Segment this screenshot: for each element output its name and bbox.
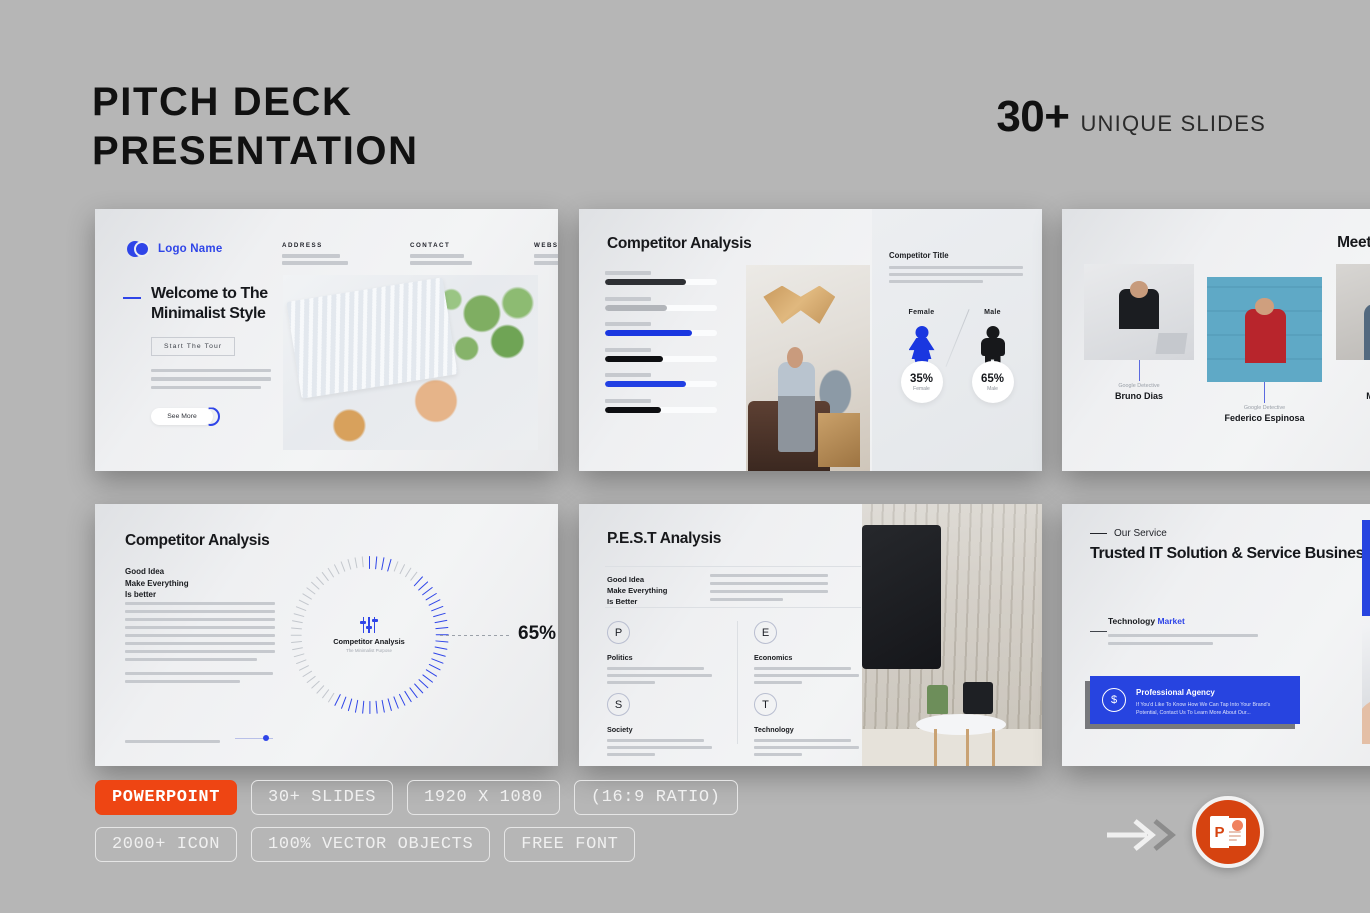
team-photo-3 [1336,264,1370,360]
bar-fill-indesign [605,356,663,362]
see-more-button[interactable]: See More [151,408,213,425]
dial-tick [394,561,399,572]
badge-vector-objects[interactable]: 100% VECTOR OBJECTS [251,827,490,862]
female-percent-caption: Female [913,386,930,392]
contact-website: WEBSITE [534,242,558,268]
contact-address: ADDRESS [282,242,348,268]
pest-letter-icon: P [607,621,630,644]
slide-title: Competitor Analysis [607,235,751,253]
female-percent-badge: 35% Female [901,361,943,403]
pest-item-society[interactable]: S Society [607,693,712,756]
bar-fill-presentation [605,407,661,413]
slide-count-group: 30+ UNIQUE SLIDES [996,92,1266,142]
tablet-photo [1362,624,1370,744]
dial-center-label: Competitor Analysis The Minimalist Purpo… [314,617,424,653]
slide-title: Meet The Team [1337,234,1370,252]
stem-line [1264,382,1265,403]
filler-line [534,261,558,265]
desk-photo [283,275,538,450]
pest-name: Economics [754,653,859,662]
dial-tick [302,593,312,600]
dial-tick [291,641,302,643]
cta-body: If You'd Like To Know How We Can Tap Int… [1136,702,1288,718]
bar-track [605,356,717,362]
dial-tick [414,683,424,694]
slide-count-label: UNIQUE SLIDES [1080,111,1266,137]
dial-tick [428,664,440,671]
welcome-title: Welcome to The Minimalist Style [151,284,273,325]
dial-tick [387,698,392,711]
filler-line [410,261,472,265]
dial-tick [311,680,320,688]
eyebrow: Our Service [1090,528,1167,539]
team-name-1: Bruno Dias [1084,391,1194,401]
stem-line [1139,360,1140,381]
feature-badges: POWERPOINT 30+ SLIDES 1920 X 1080 (16:9 … [95,780,715,874]
dial-tick [316,685,324,694]
dial-tick [291,634,302,635]
welcome-block: Welcome to The Minimalist Style Start Th… [123,284,273,425]
dial-tick [291,627,302,629]
badge-powerpoint[interactable]: POWERPOINT [95,780,237,815]
panel-paragraph [889,266,1023,283]
slide-subtitle: Good Idea Make Everything Is better [125,566,189,601]
badge-ratio[interactable]: (16:9 RATIO) [574,780,738,815]
badge-icons[interactable]: 2000+ ICON [95,827,237,862]
welcome-paragraph [151,369,271,390]
dial-tick [369,701,370,714]
dial-tick [341,561,346,572]
start-tour-button[interactable]: Start The Tour [151,337,235,356]
filler-line [534,254,558,258]
slide-title: Trusted IT Solution & Service Business A… [1090,544,1370,564]
skill-bar-list [605,271,717,424]
male-percent-badge: 65% Male [972,361,1014,403]
professional-agency-cta[interactable]: $ Professional Agency If You'd Like To K… [1090,676,1300,724]
footer-url [125,740,220,743]
dial-tick [322,572,330,582]
see-more-label: See More [167,413,196,420]
dial-tick [434,620,447,624]
bar-track [605,279,717,285]
dial-title: Competitor Analysis [314,637,424,646]
body-paragraph-2 [125,672,273,683]
pest-body [607,667,712,684]
dial-tick [435,627,448,630]
contact-heading: WEBSITE [534,242,558,249]
skill-bar [605,373,717,387]
dial-tick [306,675,316,683]
badge-free-font[interactable]: FREE FONT [504,827,635,862]
bar-track [605,330,717,336]
dial-tick [431,658,444,664]
slide-competitor-bars[interactable]: Competitor Analysis Competitor Title Fem… [579,209,1042,471]
body-paragraph [125,602,275,661]
filler-line [282,261,348,265]
slide-welcome[interactable]: Logo Name ADDRESS CONTACT WEBSITE Welcom… [95,209,558,471]
bar-track [605,407,717,413]
sliders-icon [314,617,424,633]
dial-tick [328,692,335,702]
dial-tick [362,701,365,714]
dial-tick [425,669,437,677]
badge-row-2: 2000+ ICON 100% VECTOR OBJECTS FREE FONT [95,827,715,862]
slide-meet-the-team[interactable]: Meet The Team Google Detective Bruno Dia… [1062,209,1370,471]
dial-tick [306,587,316,595]
dial-tick [292,620,303,623]
slide-title: P.E.S.T Analysis [607,530,721,548]
dial-tick [404,691,412,703]
bar-fill-adobe-photoshop [605,305,667,311]
dial-tick [296,659,307,664]
dial-tick [428,599,440,606]
dial-tick [311,581,320,589]
arrow-double-right-icon [1105,818,1181,852]
office-photo [746,265,870,471]
dial-subtitle: The Minimalist Purpose [314,648,424,653]
dial-tick [409,687,418,698]
market-label: Market [1157,616,1184,626]
skill-bar [605,399,717,413]
page-title-line1: PITCH DECK [92,80,352,124]
bar-fill-adobe-illustrator [605,279,686,285]
dial-tick [418,679,429,689]
tech-paragraph [1108,634,1258,645]
refresh-dollar-icon: $ [1102,688,1126,712]
dial-tick [362,556,364,567]
slide-our-service[interactable]: Our Service Trusted IT Solution & Servic… [1062,504,1370,766]
contact-contact: CONTACT [410,242,472,268]
dial-tick [387,559,392,572]
team-name-2: Federico Espinosa [1207,413,1322,423]
skill-bar [605,348,717,362]
pest-name: Technology [754,725,859,734]
dial-tick [399,564,405,574]
page-title: PITCH DECK PRESENTATION [92,78,419,176]
team-role-1: Google Detective [1084,383,1194,389]
dial-tick [433,652,446,657]
pest-body [754,739,859,756]
logo-label: Logo Name [158,243,222,255]
leader-dotted-line [440,635,512,636]
dial-tick [434,646,447,650]
dial-tick [393,696,399,709]
team-photo-2 [1207,277,1322,382]
dial-tick [422,674,433,683]
dial-tick [410,572,418,582]
dial-tick [294,613,305,617]
body-paragraph [710,574,828,601]
tech-label: Technology [1108,616,1157,626]
eyebrow-label: Our Service [1114,528,1167,539]
cta-title: Professional Agency [1136,688,1215,697]
skill-bar [605,297,717,311]
pest-item-politics[interactable]: P Politics [607,621,712,684]
pest-name: Society [607,725,712,734]
team-role-3: Google Detective [1336,383,1370,389]
pest-letter-icon: E [754,621,777,644]
radial-tick-chart: Competitor Analysis The Minimalist Purpo… [290,556,448,714]
slide-subtitle: Good Idea Make Everything Is Better [607,574,667,607]
dial-tick [292,647,303,650]
dial-tick [294,653,305,657]
dial-tick [299,665,309,671]
pest-letter-icon: S [607,693,630,716]
logo: Logo Name [127,241,222,257]
accent-dash [1090,631,1107,632]
dial-tick [341,696,347,709]
dial-tick [322,689,330,699]
team-photo-1 [1084,264,1194,360]
slide-title: Competitor Analysis [125,532,269,550]
dial-tick [354,557,357,568]
bar-track [605,305,717,311]
dial-tick [375,556,378,569]
dial-tick [299,599,309,605]
dial-tick [347,559,351,570]
dial-tick [355,700,359,713]
dial-tick [369,556,370,569]
logo-circles-icon [127,241,150,257]
bar-fill-power-point [605,330,692,336]
female-percent-value: 35% [910,373,933,385]
pest-item-economics[interactable]: E Economics [754,621,859,684]
pest-body [607,739,712,756]
graphic-design-card[interactable]: GRAPHIC DESIGN This is the sample Dummy … [1362,520,1370,616]
dial-tick [347,698,352,711]
panel-title: Competitor Title [889,251,949,260]
badge-resolution[interactable]: 1920 X 1080 [407,780,560,815]
contact-columns: ADDRESS CONTACT WEBSITE [282,242,558,268]
dial-percent-value: 65% [518,623,556,645]
contact-heading: ADDRESS [282,242,348,249]
pest-name: Politics [607,653,712,662]
dial-tick [405,567,412,577]
bedroom-photo [862,504,1042,766]
bar-fill-opportunity [605,381,686,387]
competitor-panel: Competitor Title Female Male [872,209,1042,471]
slide-competitor-dial[interactable]: Competitor Analysis Good Idea Make Every… [95,504,558,766]
dial-tick [334,694,341,706]
pest-body [754,667,859,684]
team-role-2: Google Detective [1207,405,1322,411]
dial-tick [302,670,312,677]
percent-circles: 35% Female 65% Male [886,361,1028,403]
pest-item-technology[interactable]: T Technology [754,693,859,756]
dial-tick [431,606,444,612]
dial-tick [433,613,446,618]
team-name-3: Mark Roberson [1336,391,1370,401]
technology-market-label: Technology Market [1108,616,1185,626]
dial-tick [316,576,324,585]
page-title-line2: PRESENTATION [92,127,419,176]
dial-tick [381,557,385,570]
badge-row-1: POWERPOINT 30+ SLIDES 1920 X 1080 (16:9 … [95,780,715,815]
dial-tick [399,694,406,706]
skill-bar [605,271,717,285]
pest-letter-icon: T [754,693,777,716]
bar-track [605,381,717,387]
male-percent-value: 65% [981,373,1004,385]
progress-slider[interactable] [235,735,273,741]
skill-bar [605,322,717,336]
dial-tick [381,700,385,713]
dial-tick [296,606,307,611]
dial-tick [435,640,448,643]
powerpoint-logo-icon[interactable]: P [1192,796,1264,868]
dial-tick [375,701,378,714]
filler-line [410,254,464,258]
dial-tick [425,593,437,601]
contact-heading: CONTACT [410,242,472,249]
male-percent-caption: Male [987,386,998,392]
arrow-right-icon [201,407,220,426]
female-label: Female [886,309,957,316]
accent-dash [1090,533,1107,535]
accent-dash [123,297,141,299]
filler-line [282,254,340,258]
slide-pest-analysis[interactable]: P.E.S.T Analysis Good Idea Make Everythi… [579,504,1042,766]
slide-count-number: 30+ [996,92,1069,142]
dial-tick [334,564,340,574]
dial-tick [328,567,335,577]
badge-slides[interactable]: 30+ SLIDES [251,780,393,815]
